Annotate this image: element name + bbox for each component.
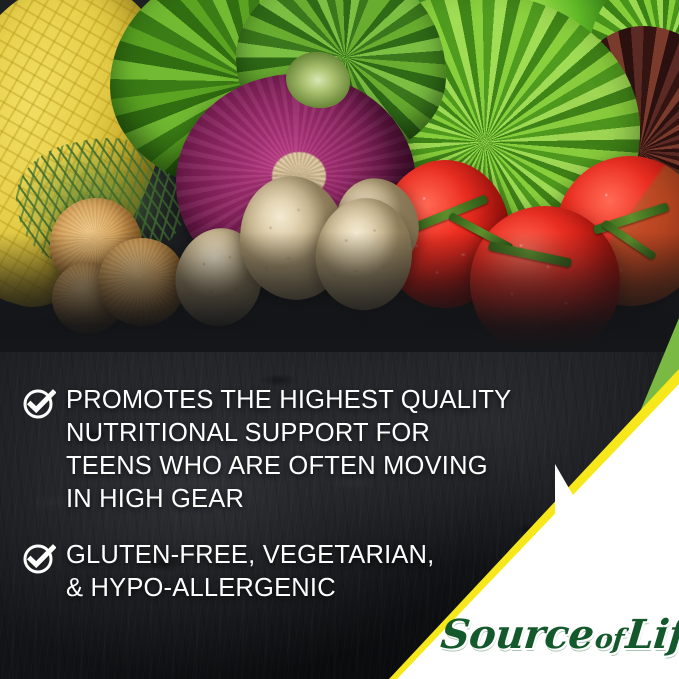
benefit-text: GLUTEN-FREE, VEGETARIAN, & HYPO-ALLERGEN… bbox=[66, 539, 434, 605]
benefit-item-1: PROMOTES THE HIGHEST QUALITY NUTRITIONAL… bbox=[0, 384, 560, 517]
check-circle-icon bbox=[22, 386, 56, 420]
marketing-banner: PROMOTES THE HIGHEST QUALITY NUTRITIONAL… bbox=[0, 0, 679, 679]
check-circle-icon bbox=[22, 541, 56, 575]
brand-word-source: Source bbox=[439, 611, 596, 658]
brand-word-life: Life bbox=[624, 611, 679, 658]
bell-pepper-stem bbox=[286, 52, 350, 108]
photo-bottom-fade bbox=[0, 232, 679, 352]
brand-word-of: of bbox=[591, 624, 627, 655]
vegetable-photo bbox=[0, 0, 679, 352]
brand-logo: SourceofLife® bbox=[441, 615, 663, 655]
brand-logo-text: SourceofLife® bbox=[439, 615, 679, 655]
benefit-text: PROMOTES THE HIGHEST QUALITY NUTRITIONAL… bbox=[66, 384, 511, 517]
